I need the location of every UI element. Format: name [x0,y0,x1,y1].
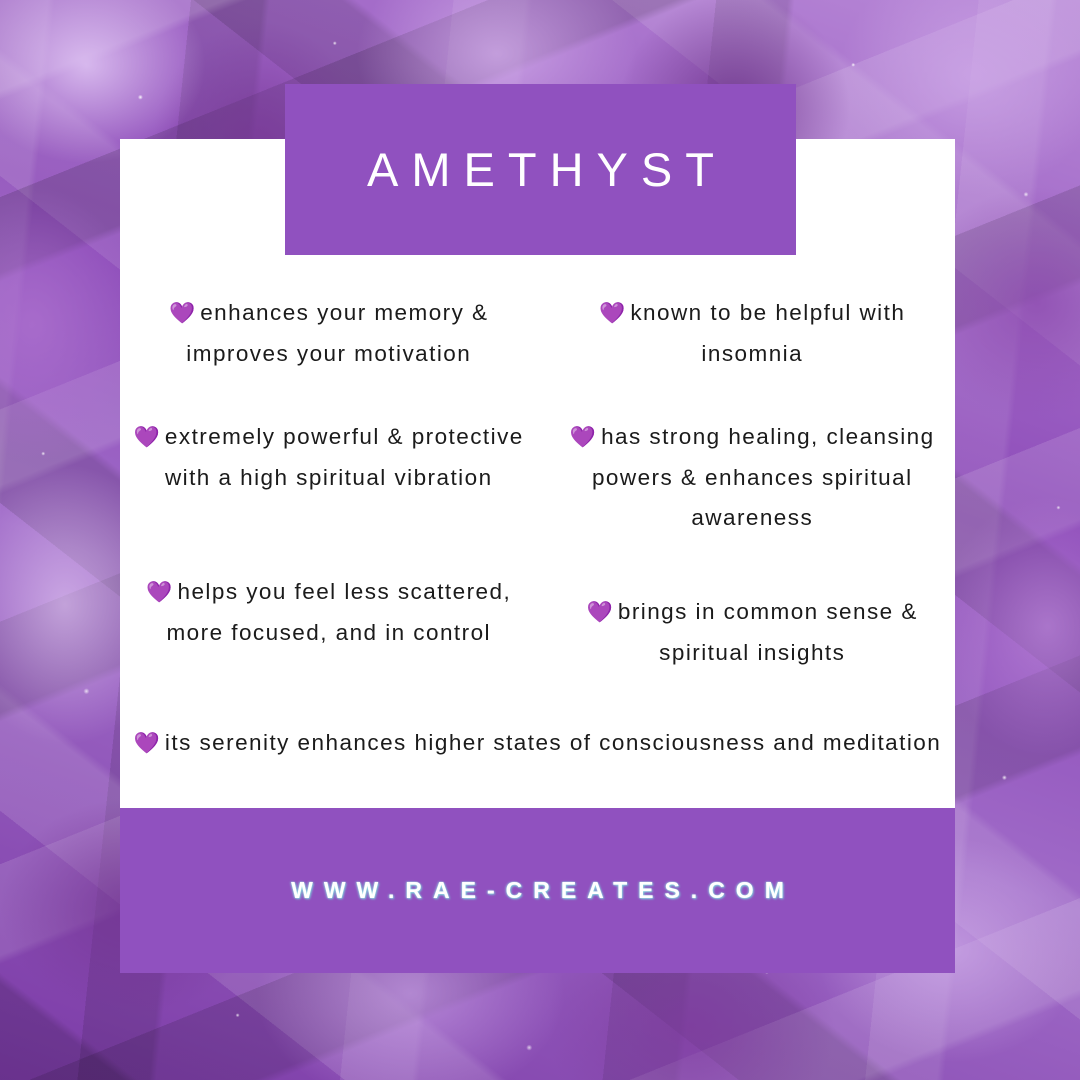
benefit-text: known to be helpful with insomnia [630,300,905,366]
benefit-column-left: 💜helps you feel less scattered, more foc… [120,572,538,673]
purple-heart-icon: 💜 [587,601,613,624]
benefit-text: enhances your memory & improves your mot… [186,300,488,366]
amethyst-infographic: AMETHYST 💜enhances your memory & improve… [0,0,1080,1080]
purple-heart-icon: 💜 [599,302,625,325]
page-title: AMETHYST [354,142,727,197]
benefit-row-full: 💜its serenity enhances higher states of … [120,723,955,764]
purple-heart-icon: 💜 [169,302,195,325]
benefit-row: 💜helps you feel less scattered, more foc… [120,572,955,673]
footer-banner: WWW.RAE-CREATES.COM [120,808,955,973]
benefits-list: 💜enhances your memory & improves your mo… [120,275,955,808]
benefit-column-right: 💜brings in common sense & spiritual insi… [538,572,956,673]
purple-heart-icon: 💜 [146,581,172,604]
website-url[interactable]: WWW.RAE-CREATES.COM [280,877,795,904]
purple-heart-icon: 💜 [134,426,160,449]
benefit-item: 💜enhances your memory & improves your mo… [126,293,532,374]
purple-heart-icon: 💜 [570,426,596,449]
benefit-text: brings in common sense & spiritual insig… [618,599,918,665]
benefit-item: 💜its serenity enhances higher states of … [120,723,955,764]
benefit-item: 💜known to be helpful with insomnia [556,293,950,374]
purple-heart-icon: 💜 [134,732,160,755]
benefit-text: has strong healing, cleansing powers & e… [592,424,935,530]
benefit-item: 💜brings in common sense & spiritual insi… [556,572,950,673]
title-banner: AMETHYST [285,84,796,255]
benefit-item: 💜extremely powerful & protective with a … [126,417,532,498]
benefit-row: 💜enhances your memory & improves your mo… [120,293,955,374]
benefit-column-left: 💜enhances your memory & improves your mo… [120,293,538,374]
benefit-column-left: 💜extremely powerful & protective with a … [120,417,538,538]
benefit-column-right: 💜has strong healing, cleansing powers & … [538,417,956,538]
benefit-text: extremely powerful & protective with a h… [165,424,524,490]
benefit-text: its serenity enhances higher states of c… [165,730,941,755]
benefit-item: 💜helps you feel less scattered, more foc… [126,572,532,653]
benefit-row: 💜extremely powerful & protective with a … [120,417,955,538]
benefit-text: helps you feel less scattered, more focu… [166,579,511,645]
benefit-item: 💜has strong healing, cleansing powers & … [556,417,950,538]
benefit-column-right: 💜known to be helpful with insomnia [538,293,956,374]
